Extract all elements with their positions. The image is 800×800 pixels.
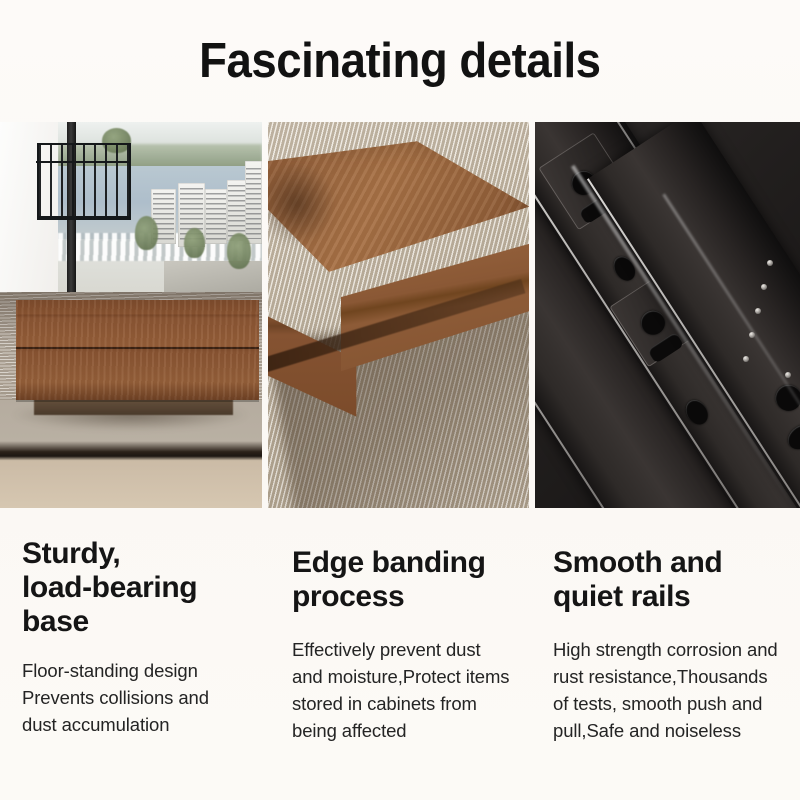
feature-column-edge-banding: Edge banding process Effectively prevent… (263, 508, 532, 800)
photo-cabinet-window (0, 122, 262, 508)
feature-heading: Edge banding process (292, 546, 516, 614)
tree (135, 216, 157, 249)
tree (184, 228, 204, 259)
product-feature-panel: Fascinating details (0, 0, 800, 800)
walnut-cabinet (16, 300, 259, 400)
building (245, 161, 261, 244)
photo-drawer-rails (535, 122, 800, 508)
page-title: Fascinating details (199, 37, 600, 86)
feature-column-quiet-rails: Smooth and quiet rails High strength cor… (532, 508, 800, 800)
feature-heading: Sturdy, load-bearing base (22, 537, 247, 639)
page-title-bar: Fascinating details (0, 0, 800, 122)
feature-body: Effectively prevent dust and moisture,Pr… (292, 636, 516, 744)
balcony-railing (37, 143, 131, 220)
feature-body: Floor-standing design Prevents collision… (22, 657, 247, 738)
feature-heading: Smooth and quiet rails (553, 546, 792, 614)
feature-column-sturdy-base: Sturdy, load-bearing base Floor-standing… (0, 508, 263, 800)
tree (227, 233, 251, 269)
feature-body: High strength corrosion and rust resista… (553, 636, 792, 744)
mounting-hole (682, 396, 713, 429)
surface-shading (268, 161, 336, 246)
mounting-hole (784, 419, 800, 454)
building (205, 189, 227, 245)
photo-edge-banding (268, 122, 530, 508)
feature-text-columns: Sturdy, load-bearing base Floor-standing… (0, 508, 800, 800)
feature-image-gallery (0, 122, 800, 508)
